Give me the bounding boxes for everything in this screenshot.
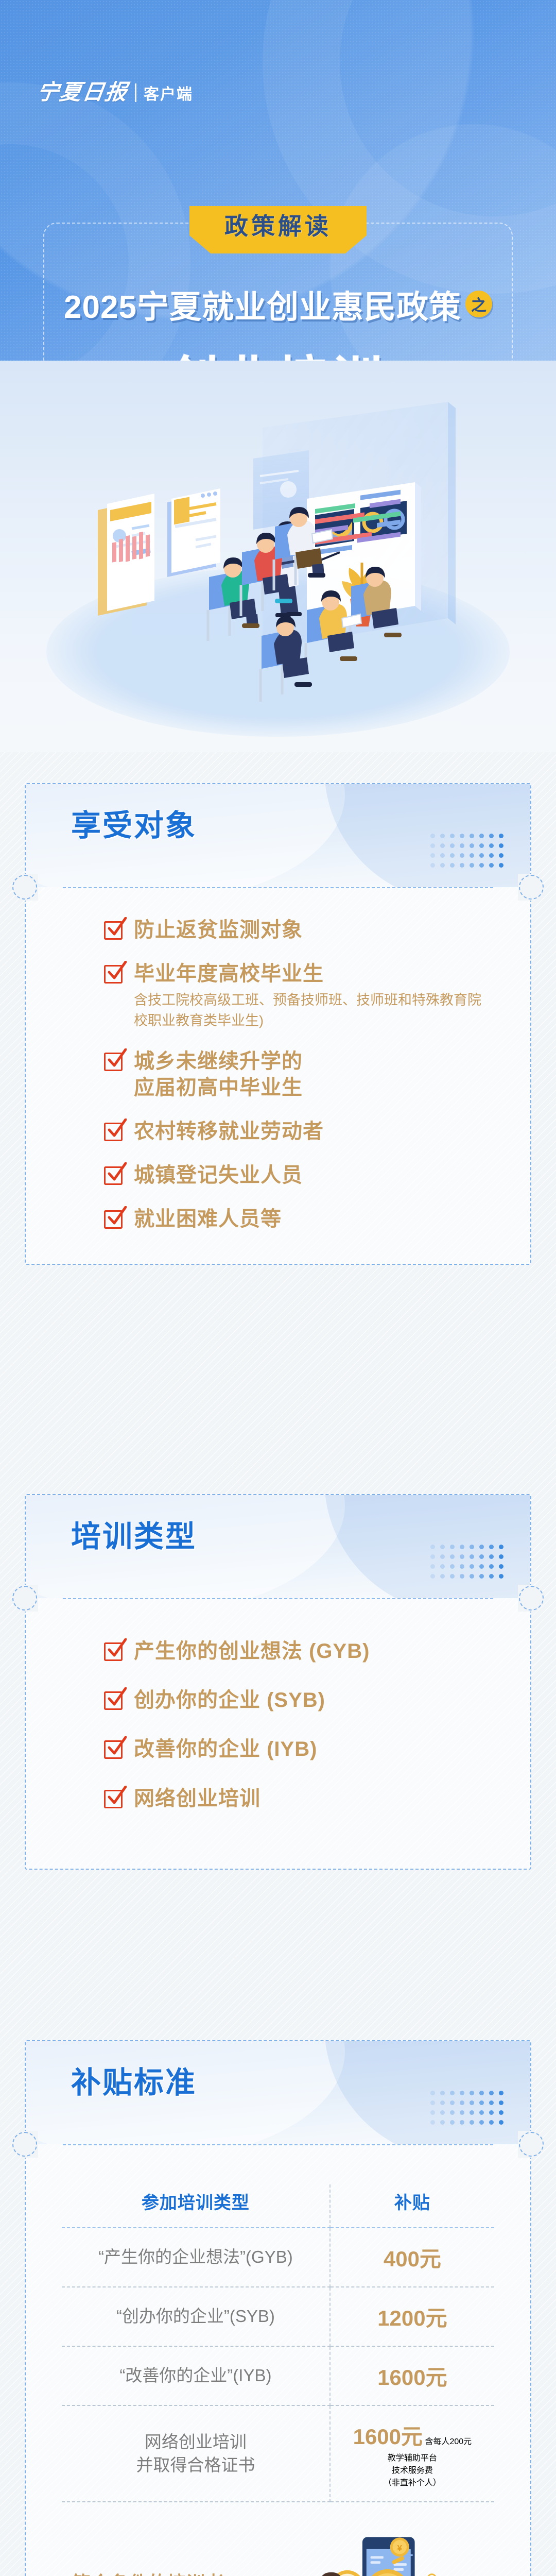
- section-card-subsidy: 补贴标准 参加培训类型 补贴 “产生你的企业想法”(GYB): [25, 2040, 531, 2576]
- checkbox-checked-icon: [104, 1642, 123, 1661]
- list-item-label: 城镇登记失业人员: [134, 1162, 303, 1189]
- cell-subsidy-amount: 1200元: [330, 2287, 494, 2346]
- checkbox-checked-icon: [104, 1053, 123, 1071]
- column-header-subsidy: 补贴: [330, 2184, 494, 2228]
- hero-banner: 宁夏日报 客户端 政策解读 2025宁夏就业创业惠民政策之 创业培训: [0, 0, 556, 392]
- list-item: 毕业年度高校毕业生 含技工院校高级工班、预备技师班、技师班和特殊教育院校职业教育…: [104, 961, 494, 1030]
- list-item-label: 网络创业培训: [134, 1786, 260, 1812]
- checkbox-checked-icon: [104, 1210, 123, 1229]
- section-card-training-types: 培训类型 产生你的创业想法 (GYB): [25, 1494, 531, 1870]
- cell-training-type: “产生你的企业想法”(GYB): [62, 2228, 330, 2287]
- subsidy-standard-table: 参加培训类型 补贴 “产生你的企业想法”(GYB) 400元 “创办你的企业”(…: [62, 2184, 494, 2502]
- table-row: 网络创业培训 并取得合格证书 1600元 含每人200元 教学辅助平台 技术服务…: [62, 2405, 494, 2502]
- ribbon-label: 政策解读: [224, 214, 332, 245]
- card-body-subsidy: 参加培训类型 补贴 “产生你的企业想法”(GYB) 400元 “创办你的企业”(…: [26, 2145, 530, 2576]
- list-item-label: 产生你的创业想法 (GYB): [134, 1638, 370, 1665]
- list-item-label: 农村转移就业劳动者: [134, 1118, 324, 1145]
- card-header-beneficiaries: 享受对象: [26, 784, 530, 887]
- decorative-dot-grid: [430, 834, 503, 868]
- table-row: “创办你的企业”(SYB) 1200元: [62, 2287, 494, 2346]
- money-illustration-svg: ¥ ¥ ¥: [273, 2526, 494, 2576]
- section-title-training-types: 培训类型: [71, 1522, 197, 1552]
- hero-subtitle: 2025宁夏就业创业惠民政策之: [0, 281, 556, 327]
- classroom-isometric-svg: [0, 361, 556, 752]
- list-item: 改善你的企业 (IYB): [104, 1736, 494, 1762]
- checkbox-checked-icon: [104, 1691, 123, 1710]
- checkbox-checked-icon: [104, 1166, 123, 1185]
- masthead-app-label: 客户端: [144, 81, 193, 104]
- training-classroom-illustration: [0, 361, 556, 752]
- list-item-label: 城乡未继续升学的 应届初高中毕业生: [134, 1048, 303, 1101]
- cell-training-type: 网络创业培训 并取得合格证书: [62, 2405, 330, 2502]
- list-item-label: 防止返贫监测对象: [134, 917, 303, 943]
- cell-training-type: “创办你的企业”(SYB): [62, 2287, 330, 2346]
- checkbox-checked-icon: [104, 1790, 123, 1808]
- list-item: 就业困难人员等: [104, 1206, 494, 1232]
- checkbox-checked-icon: [104, 965, 123, 984]
- list-item-note: 含技工院校高级工班、预备技师班、技师班和特殊教育院校职业教育类毕业生): [134, 990, 494, 1030]
- list-item: 农村转移就业劳动者: [104, 1118, 494, 1145]
- list-item-label: 毕业年度高校毕业生: [134, 961, 494, 987]
- masthead-calligraphy: 宁夏日报: [36, 82, 129, 104]
- decorative-dot-grid: [430, 1545, 503, 1579]
- list-item: 产生你的创业想法 (GYB): [104, 1638, 494, 1665]
- list-item-label: 就业困难人员等: [134, 1206, 282, 1232]
- list-item-label: 改善你的企业 (IYB): [134, 1736, 317, 1762]
- policy-interpretation-badge: 政策解读: [189, 206, 367, 253]
- masthead-divider: [135, 83, 136, 102]
- table-row: “产生你的企业想法”(GYB) 400元: [62, 2228, 494, 2287]
- list-item: 网络创业培训: [104, 1786, 494, 1812]
- list-item: 防止返贫监测对象: [104, 917, 494, 943]
- column-header-training-type: 参加培训类型: [62, 2184, 330, 2228]
- checkbox-checked-icon: [104, 1123, 123, 1141]
- section-card-beneficiaries: 享受对象 防止返贫监测对象: [25, 783, 531, 1265]
- decorative-dot-grid: [430, 2091, 503, 2125]
- section-title-beneficiaries: 享受对象: [71, 811, 197, 841]
- card-body-training-types: 产生你的创业想法 (GYB) 创办你的企业 (SYB) 改善你的企业 (IYB): [26, 1599, 530, 1869]
- subsidy-note-text: 符合条件的培训者 原则上同一模块培训 只能参加一次: [62, 2569, 268, 2576]
- checkbox-checked-icon: [104, 921, 123, 940]
- cell-subsidy-amount: 1600元: [330, 2346, 494, 2405]
- masthead-logo: 宁夏日报 客户端: [37, 81, 193, 104]
- beneficiary-checklist: 防止返贫监测对象 毕业年度高校毕业生 含技工院校高级工班、预备技师班、技师班和特…: [62, 917, 494, 1233]
- section-title-subsidy: 补贴标准: [71, 2068, 197, 2098]
- cell-subsidy-amount: 1600元 含每人200元 教学辅助平台 技术服务费 （非直补个人）: [330, 2405, 494, 2502]
- list-item: 城镇登记失业人员: [104, 1162, 494, 1189]
- table-header-row: 参加培训类型 补贴: [62, 2184, 494, 2228]
- subsidy-note-row: 符合条件的培训者 原则上同一模块培训 只能参加一次: [62, 2502, 494, 2576]
- svg-text:¥: ¥: [397, 2544, 403, 2553]
- card-body-beneficiaries: 防止返贫监测对象 毕业年度高校毕业生 含技工院校高级工班、预备技师班、技师班和特…: [26, 888, 530, 1264]
- checkbox-checked-icon: [104, 1740, 123, 1759]
- card-header-subsidy: 补贴标准: [26, 2041, 530, 2144]
- list-item: 创办你的企业 (SYB): [104, 1687, 494, 1714]
- card-header-training-types: 培训类型: [26, 1495, 530, 1598]
- cell-training-type: “改善你的企业”(IYB): [62, 2346, 330, 2405]
- hero-subtitle-text: 2025宁夏就业创业惠民政策: [64, 290, 461, 325]
- hero-zhi-badge: 之: [465, 291, 492, 317]
- list-item-label: 创办你的企业 (SYB): [134, 1687, 325, 1714]
- list-item: 城乡未继续升学的 应届初高中毕业生: [104, 1048, 494, 1101]
- training-type-checklist: 产生你的创业想法 (GYB) 创办你的企业 (SYB) 改善你的企业 (IYB): [62, 1638, 494, 1812]
- table-row: “改善你的企业”(IYB) 1600元: [62, 2346, 494, 2405]
- money-phone-illustration: ¥ ¥ ¥: [273, 2526, 494, 2576]
- cell-subsidy-amount: 400元: [330, 2228, 494, 2287]
